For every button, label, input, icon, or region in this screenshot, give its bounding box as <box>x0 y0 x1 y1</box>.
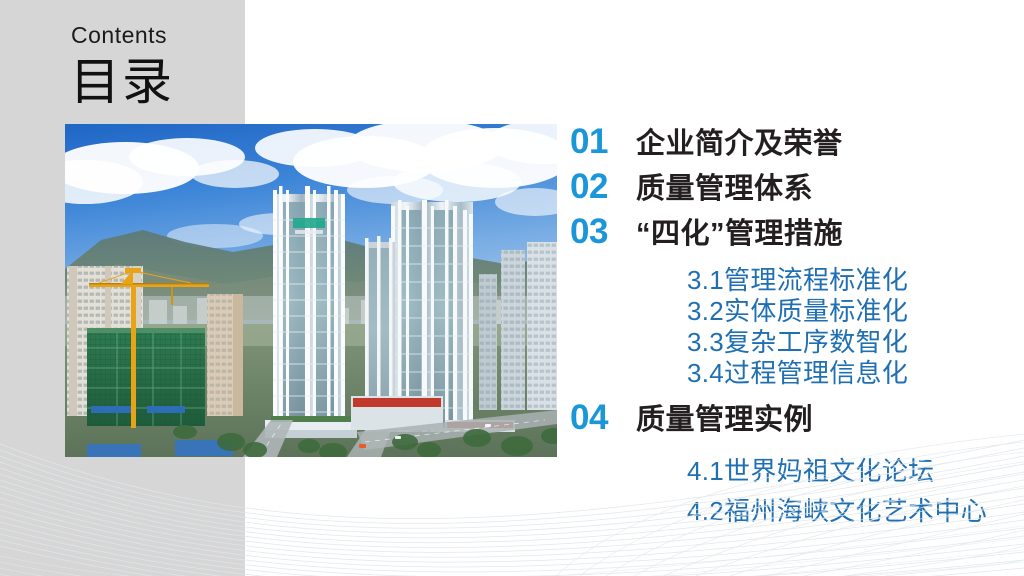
toc-label-03: “四化”管理措施 <box>636 220 843 249</box>
toc-number-03: 03 <box>570 214 636 249</box>
toc-number-01: 01 <box>570 124 636 159</box>
toc-subitem-3-4[interactable]: 3.4过程管理信息化 <box>687 360 908 386</box>
toc-subitem-3-3[interactable]: 3.3复杂工序数智化 <box>687 329 908 355</box>
toc-subitem-3-1[interactable]: 3.1管理流程标准化 <box>687 267 908 293</box>
toc-section-02[interactable]: 02 质量管理体系 <box>570 169 813 204</box>
contents-eyebrow: Contents <box>71 24 167 47</box>
page-title: 目录 <box>70 55 174 110</box>
toc-label-01: 企业简介及荣誉 <box>636 130 843 159</box>
toc-section-03[interactable]: 03 “四化”管理措施 <box>570 214 843 249</box>
toc-section-01[interactable]: 01 企业简介及荣誉 <box>570 124 843 159</box>
toc-number-02: 02 <box>570 169 636 204</box>
toc-label-04: 质量管理实例 <box>636 406 813 435</box>
toc-subitem-3-2[interactable]: 3.2实体质量标准化 <box>687 298 908 324</box>
toc-subitem-4-2[interactable]: 4.2福州海峡文化艺术中心 <box>687 498 987 524</box>
slide-canvas: Contents 目录 <box>0 0 1024 576</box>
table-of-contents: 01 企业简介及荣誉 02 质量管理体系 03 “四化”管理措施 3.1管理流程… <box>570 115 1020 545</box>
cityscape-photo <box>65 124 557 457</box>
toc-number-04: 04 <box>570 400 636 435</box>
toc-subitem-4-1[interactable]: 4.1世界妈祖文化论坛 <box>687 458 934 484</box>
toc-label-02: 质量管理体系 <box>636 175 813 204</box>
toc-section-04[interactable]: 04 质量管理实例 <box>570 400 813 435</box>
